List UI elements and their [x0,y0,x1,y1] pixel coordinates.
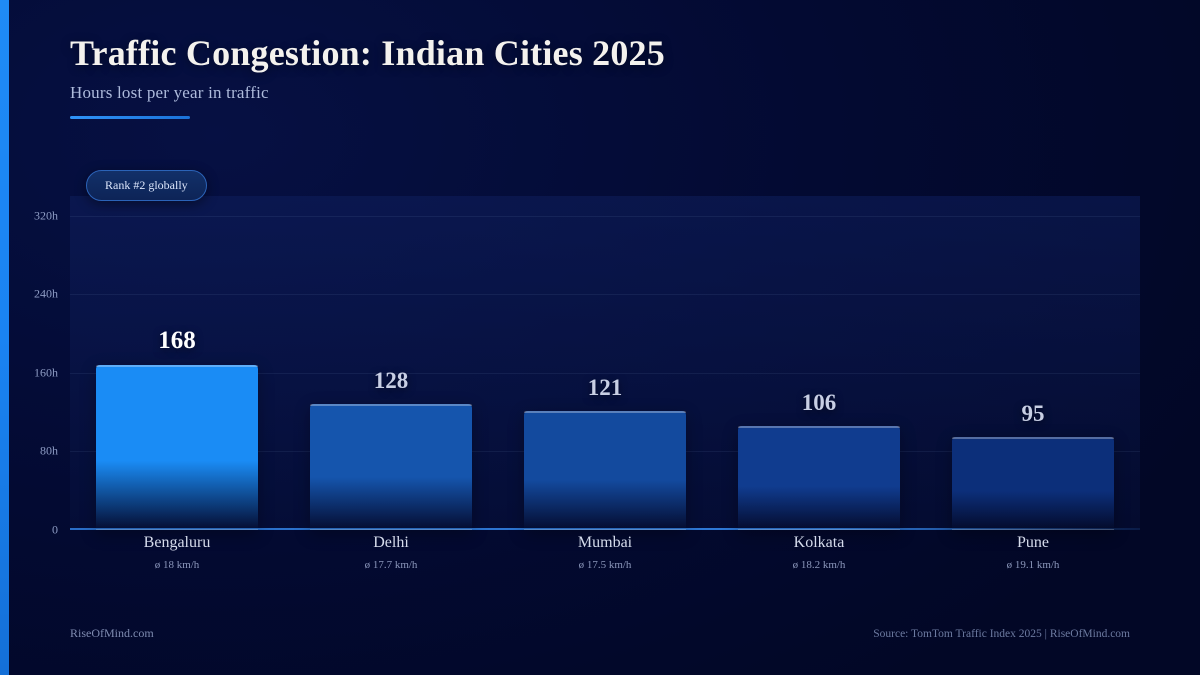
x-axis-label-group: Puneø 19.1 km/h [926,534,1140,571]
footer-brand: RiseOfMind.com [70,626,154,641]
bar[interactable] [952,437,1114,530]
left-accent-stripe [0,0,9,675]
x-axis-city-label: Bengaluru [70,534,284,552]
x-axis-speed-sublabel: ø 18 km/h [70,559,284,571]
x-axis-city-label: Kolkata [712,534,926,552]
bar-column[interactable]: 128 [310,196,472,530]
x-axis-label-group: Bengaluruø 18 km/h [70,534,284,571]
bar-value-label: 128 [374,368,409,394]
x-axis-city-label: Mumbai [498,534,712,552]
x-axis-label-group: Mumbaiø 17.5 km/h [498,534,712,571]
y-axis-tick-label: 80h [40,444,58,459]
footer-source: Source: TomTom Traffic Index 2025 | Rise… [873,628,1130,640]
x-axis-labels: Bengaluruø 18 km/hDelhiø 17.7 km/hMumbai… [70,534,1140,584]
bar[interactable] [310,404,472,530]
x-axis-label-group: Kolkataø 18.2 km/h [712,534,926,571]
bar[interactable] [96,365,258,530]
y-axis-tick-label: 320h [34,208,58,223]
x-axis-city-label: Delhi [284,534,498,552]
bar-series: 16812812110695 [70,196,1140,530]
x-axis-speed-sublabel: ø 19.1 km/h [926,559,1140,571]
bar-column[interactable]: 95 [952,196,1114,530]
bar-value-label: 106 [802,390,837,416]
bar-value-label: 168 [158,327,196,355]
y-axis-tick-label: 240h [34,287,58,302]
header: Traffic Congestion: Indian Cities 2025 H… [70,32,665,119]
y-axis-tick-label: 160h [34,365,58,380]
x-axis-speed-sublabel: ø 17.7 km/h [284,559,498,571]
bar[interactable] [524,411,686,530]
x-axis-speed-sublabel: ø 18.2 km/h [712,559,926,571]
bar-column[interactable]: 121 [524,196,686,530]
bar-column[interactable]: 168 [96,196,258,530]
chart-plot-area: 080h160h240h320h 16812812110695 [70,196,1140,530]
x-axis-city-label: Pune [926,534,1140,552]
x-axis-speed-sublabel: ø 17.5 km/h [498,559,712,571]
bar-value-label: 95 [1022,401,1045,427]
rank-badge: Rank #2 globally [86,170,207,201]
accent-underline [70,116,190,119]
bar-column[interactable]: 106 [738,196,900,530]
page-title: Traffic Congestion: Indian Cities 2025 [70,32,665,74]
slide-canvas: Traffic Congestion: Indian Cities 2025 H… [0,0,1200,675]
bar[interactable] [738,426,900,530]
page-subtitle: Hours lost per year in traffic [70,83,665,103]
x-axis-label-group: Delhiø 17.7 km/h [284,534,498,571]
y-axis-tick-label: 0 [52,523,58,538]
bar-value-label: 121 [588,375,623,401]
